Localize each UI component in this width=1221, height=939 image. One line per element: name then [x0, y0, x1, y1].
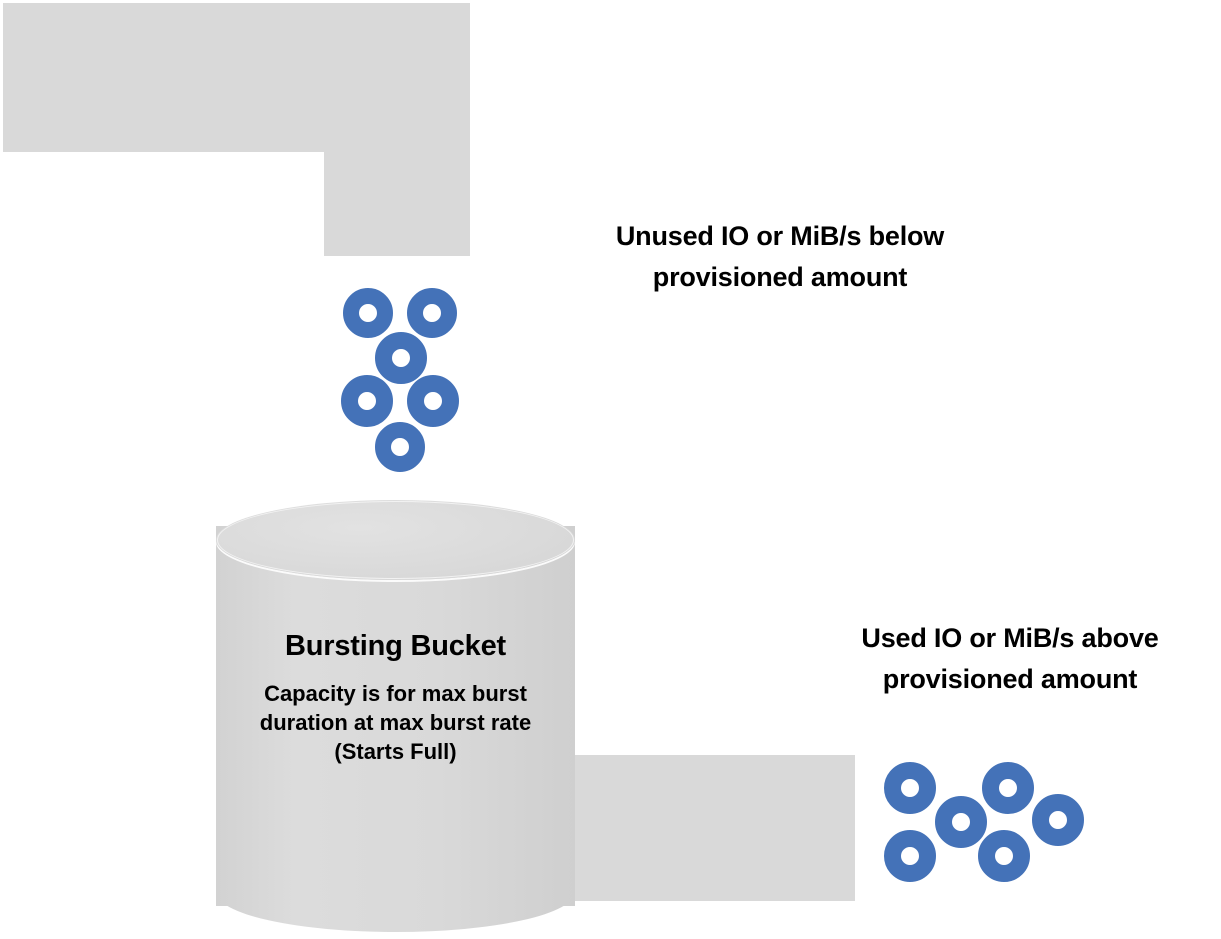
token-ring-icon	[343, 288, 393, 338]
inflow-pipe-vertical-segment	[324, 152, 470, 256]
bucket-subtitle: Capacity is for max burst duration at ma…	[216, 679, 575, 766]
token-ring-icon	[341, 375, 393, 427]
token-ring-icon	[407, 288, 457, 338]
diagram-canvas: Unused IO or MiB/s below provisioned amo…	[0, 0, 1221, 939]
outflow-callout-line-1: Used IO or MiB/s above	[800, 618, 1220, 659]
token-ring-icon	[884, 762, 936, 814]
bucket-label-block: Bursting Bucket Capacity is for max burs…	[216, 630, 575, 766]
inflow-token-cluster	[335, 270, 480, 470]
token-ring-icon	[1032, 794, 1084, 846]
bucket-top-ellipse	[216, 500, 575, 580]
token-ring-icon	[375, 422, 425, 472]
outflow-callout-label: Used IO or MiB/s above provisioned amoun…	[800, 618, 1220, 700]
bucket-subtitle-line-2: duration at max burst rate	[238, 708, 553, 737]
inflow-callout-line-2: provisioned amount	[540, 257, 1020, 298]
inflow-callout-label: Unused IO or MiB/s below provisioned amo…	[540, 216, 1020, 298]
token-ring-icon	[982, 762, 1034, 814]
token-ring-icon	[935, 796, 987, 848]
bucket-subtitle-line-1: Capacity is for max burst	[238, 679, 553, 708]
bucket-subtitle-line-3: (Starts Full)	[238, 737, 553, 766]
token-ring-icon	[375, 332, 427, 384]
inflow-pipe-horizontal-segment	[3, 3, 470, 152]
outflow-token-cluster	[878, 748, 1093, 898]
bucket-rim-highlight	[217, 501, 574, 579]
bucket-title: Bursting Bucket	[216, 630, 575, 663]
inflow-callout-line-1: Unused IO or MiB/s below	[540, 216, 1020, 257]
token-ring-icon	[978, 830, 1030, 882]
outflow-callout-line-2: provisioned amount	[800, 659, 1220, 700]
token-ring-icon	[407, 375, 459, 427]
token-ring-icon	[884, 830, 936, 882]
